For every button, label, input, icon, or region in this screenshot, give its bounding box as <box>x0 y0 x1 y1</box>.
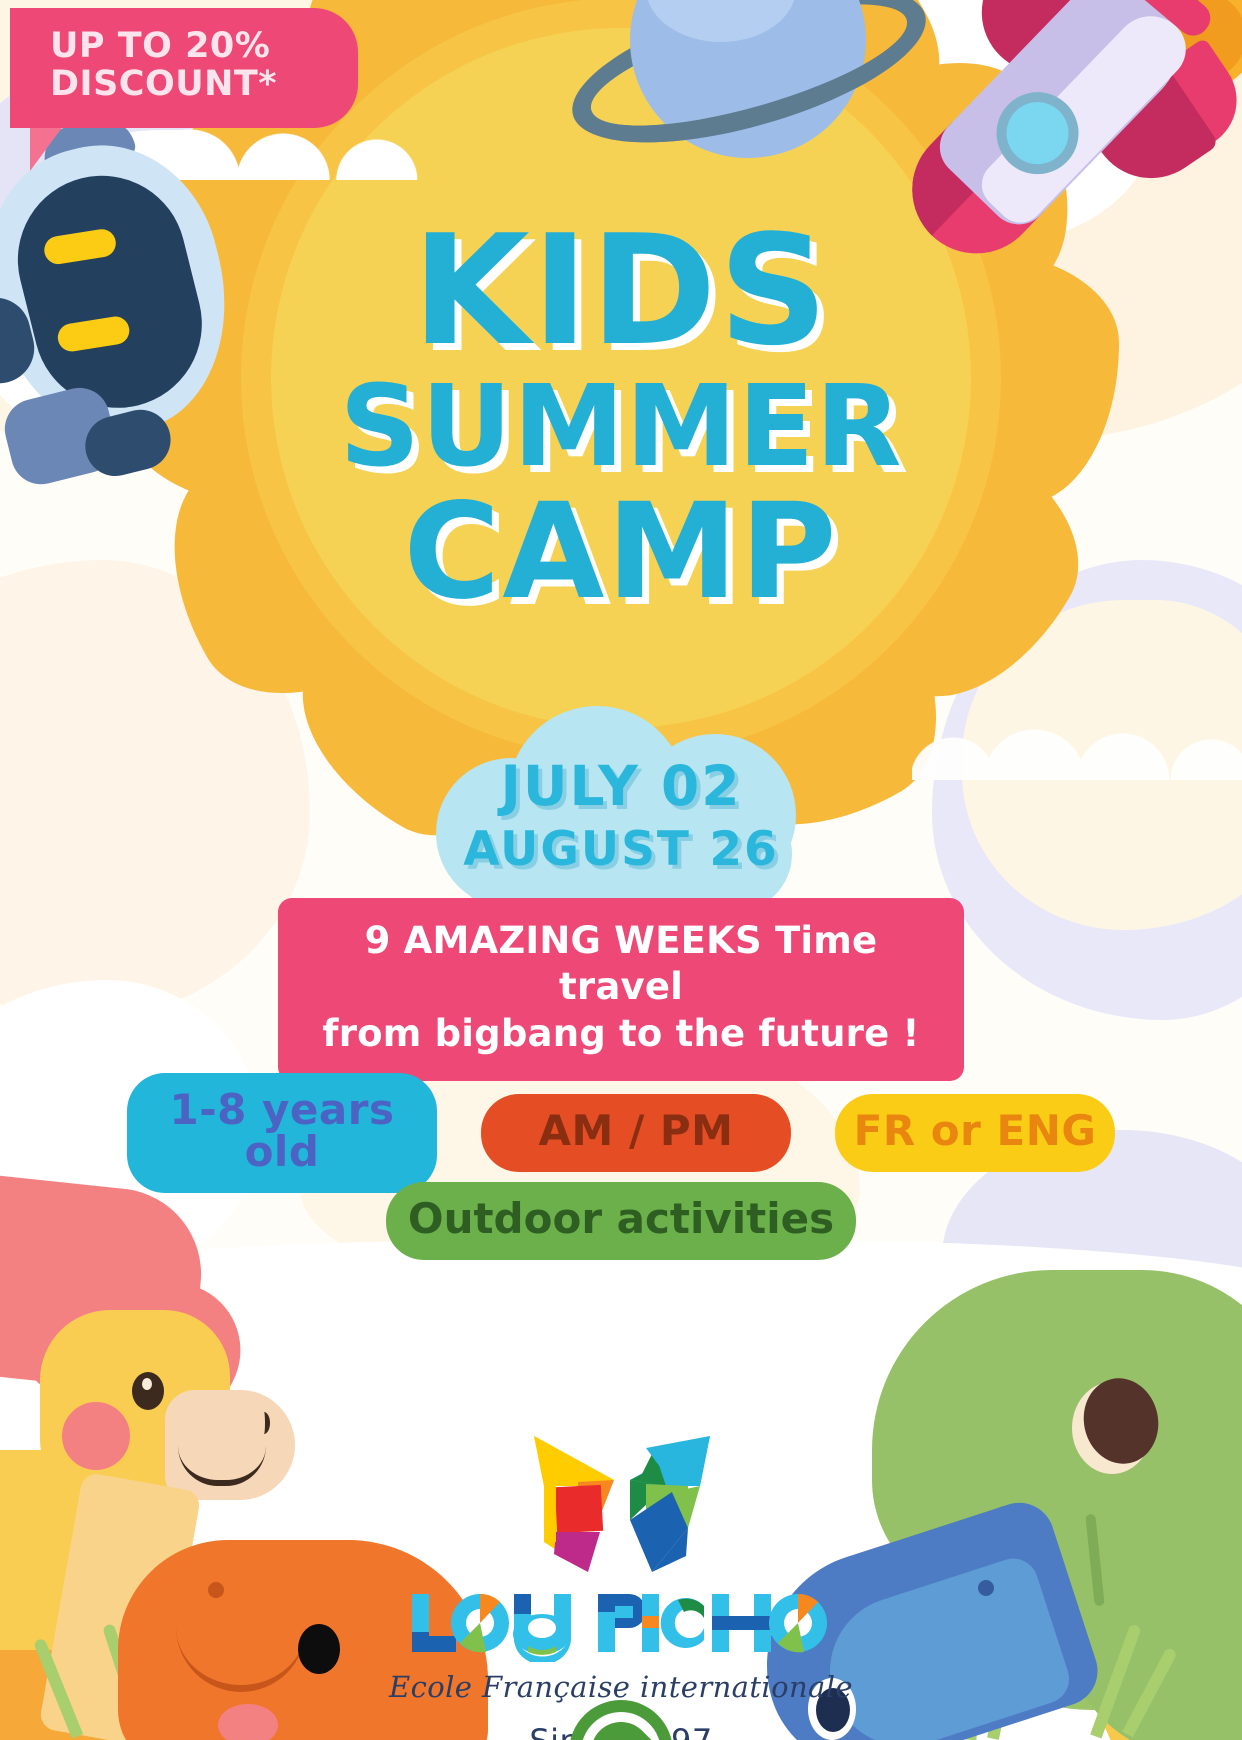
pill-time-slot[interactable]: AM / PM <box>481 1094 791 1172</box>
logo-tagline: Ecole Française internationale <box>0 1670 1242 1704</box>
feature-pill-row: 1-8 years old AM / PM FR or ENG <box>0 1073 1242 1193</box>
discount-line-1: UP TO 20% <box>50 28 332 66</box>
butterfly-logo-icon <box>496 1424 746 1584</box>
lou-pichoun-wordmark-icon <box>406 1590 836 1662</box>
title-line-summer: SUMMER <box>0 374 1242 482</box>
planet-illustration <box>630 0 866 158</box>
highlight-banner: 9 AMAZING WEEKS Time travel from bigbang… <box>278 898 964 1081</box>
pill-age-range[interactable]: 1-8 years old <box>127 1073 437 1193</box>
page-title: KIDS SUMMER CAMP <box>0 218 1242 616</box>
cloud-illustration-mid-right <box>912 690 1242 780</box>
date-cloud-text: JULY 02 AUGUST 26 <box>428 754 814 877</box>
yellow-dinosaur-eye-glint <box>142 1378 152 1390</box>
discount-badge[interactable]: UP TO 20% DISCOUNT* <box>10 8 358 128</box>
discount-badge-tail <box>30 125 64 171</box>
poster-canvas: UP TO 20% DISCOUNT* KIDS SUMMER CAMP JUL… <box>0 0 1242 1740</box>
date-start: JULY 02 <box>428 754 814 818</box>
pill-language[interactable]: FR or ENG <box>835 1094 1115 1172</box>
date-end: AUGUST 26 <box>428 822 814 877</box>
banner-line-1: 9 AMAZING WEEKS Time travel <box>304 918 938 1011</box>
pill-outdoor-activities[interactable]: Outdoor activities <box>386 1182 856 1260</box>
discount-line-2: DISCOUNT* <box>50 66 332 104</box>
date-cloud: JULY 02 AUGUST 26 <box>428 700 814 912</box>
outdoor-pill-row: Outdoor activities <box>0 1182 1242 1260</box>
title-line-kids: KIDS <box>0 218 1242 364</box>
title-line-camp: CAMP <box>0 489 1242 616</box>
logo-block: Ecole Française internationale Since 199… <box>0 1424 1242 1740</box>
banner-line-2: from bigbang to the future ! <box>304 1011 938 1057</box>
